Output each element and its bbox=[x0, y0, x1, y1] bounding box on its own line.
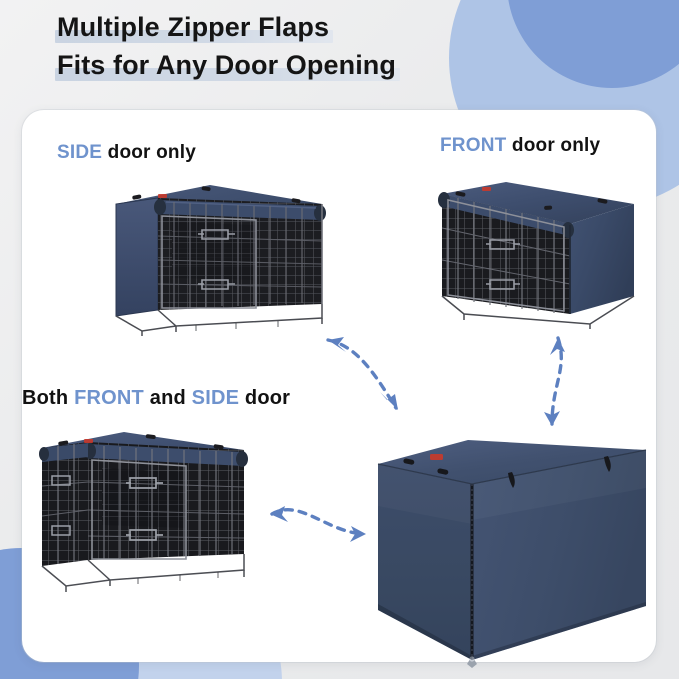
headline-line-2-text: Fits for Any Door Opening bbox=[57, 50, 396, 80]
label-both-p3: SIDE bbox=[192, 387, 239, 409]
label-both-p2: and bbox=[144, 387, 192, 409]
headline-line-2: Fits for Any Door Opening bbox=[57, 46, 396, 84]
infographic-canvas: Multiple Zipper Flaps Fits for Any Door … bbox=[0, 0, 679, 679]
arrow-both-to-covered bbox=[252, 492, 384, 554]
label-front-accent: FRONT bbox=[440, 135, 506, 156]
label-front-door-only: FRONT door only bbox=[440, 135, 600, 157]
headline-line-1: Multiple Zipper Flaps bbox=[57, 8, 329, 46]
label-side-door-only: SIDE door only bbox=[57, 142, 196, 164]
label-both-doors: Both FRONT and SIDE door bbox=[22, 387, 290, 410]
arrow-side-to-covered bbox=[300, 322, 420, 426]
label-side-accent: SIDE bbox=[57, 142, 102, 163]
headline-line-1-wrap: Multiple Zipper Flaps bbox=[57, 8, 617, 46]
headline-line-1-text: Multiple Zipper Flaps bbox=[57, 12, 329, 42]
label-both-p0: Both bbox=[22, 387, 74, 409]
label-both-p1: FRONT bbox=[74, 387, 144, 409]
headline-block: Multiple Zipper Flaps Fits for Any Door … bbox=[57, 8, 617, 84]
crate-front-door-only bbox=[428, 168, 646, 328]
headline-line-2-wrap: Fits for Any Door Opening bbox=[57, 46, 617, 84]
label-front-rest: door only bbox=[506, 135, 600, 156]
arrow-front-to-covered bbox=[528, 322, 588, 444]
label-both-p4: door bbox=[239, 387, 290, 409]
crate-both-doors bbox=[18, 420, 272, 600]
crate-side-door-only bbox=[106, 176, 336, 346]
crate-fully-covered bbox=[362, 428, 650, 664]
label-side-rest: door only bbox=[102, 142, 196, 163]
